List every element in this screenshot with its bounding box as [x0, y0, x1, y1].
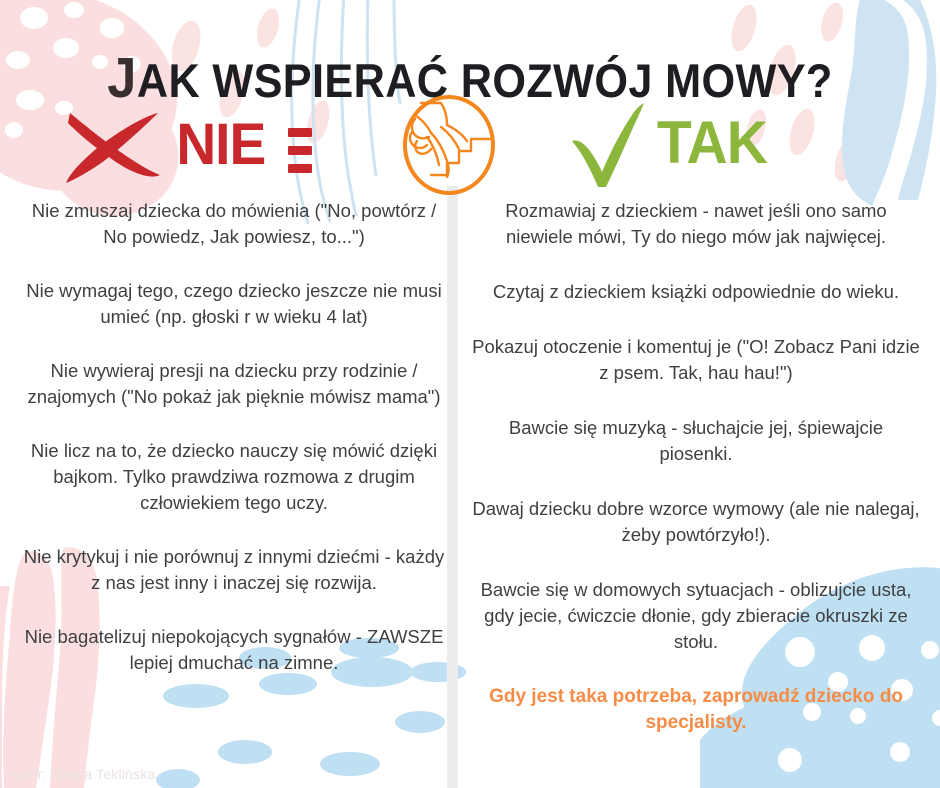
list-item: Rozmawiaj z dzieckiem - nawet jeśli ono …: [470, 198, 922, 250]
no-header: NIE: [60, 103, 360, 187]
list-item: Nie wywieraj presji na dziecku przy rodz…: [22, 358, 446, 410]
list-item: Nie wymagaj tego, czego dziecko jeszcze …: [22, 278, 446, 330]
list-item: Nie bagatelizuj niepokojących sygnałów -…: [22, 624, 446, 676]
list-item: Nie zmuszaj dziecka do mówienia ("No, po…: [22, 198, 446, 250]
yes-header: TAK: [568, 97, 898, 189]
hand-walking-stairs-icon: [397, 93, 501, 197]
yes-label: TAK: [657, 113, 767, 173]
list-item: Bawcie się muzyką - słuchajcie jej, śpie…: [470, 415, 922, 467]
list-item: Bawcie się w domowych sytuacjach - obliz…: [470, 577, 922, 655]
red-x-mark: [60, 103, 168, 187]
list-item: Nie licz na to, że dziecko nauczy się mó…: [22, 438, 446, 516]
right-column-list: Rozmawiaj z dzieckiem - nawet jeśli ono …: [470, 198, 922, 765]
left-column-list: Nie zmuszaj dziecka do mówienia ("No, po…: [22, 198, 446, 704]
list-item: Dawaj dziecku dobre wzorce wymowy (ale n…: [470, 496, 922, 548]
author-watermark: Autor: Sylwia Teklińska: [8, 766, 156, 782]
list-item: Pokazuj otoczenie i komentuj je ("O! Zob…: [470, 334, 922, 386]
no-label: NIE: [176, 116, 265, 174]
list-item: Czytaj z dzieckiem książki odpowiednie d…: [470, 279, 922, 305]
green-check-mark: [568, 97, 650, 189]
header-row: NIE: [0, 95, 940, 200]
infographic-poster: JAK WSPIERAĆ ROZWÓJ MOWY? NIE: [0, 0, 940, 788]
column-divider: [447, 186, 458, 788]
specialist-callout: Gdy jest taka potrzeba, zaprowadź dzieck…: [470, 684, 922, 736]
list-item: Nie krytykuj i nie porównuj z innymi dzi…: [22, 544, 446, 596]
